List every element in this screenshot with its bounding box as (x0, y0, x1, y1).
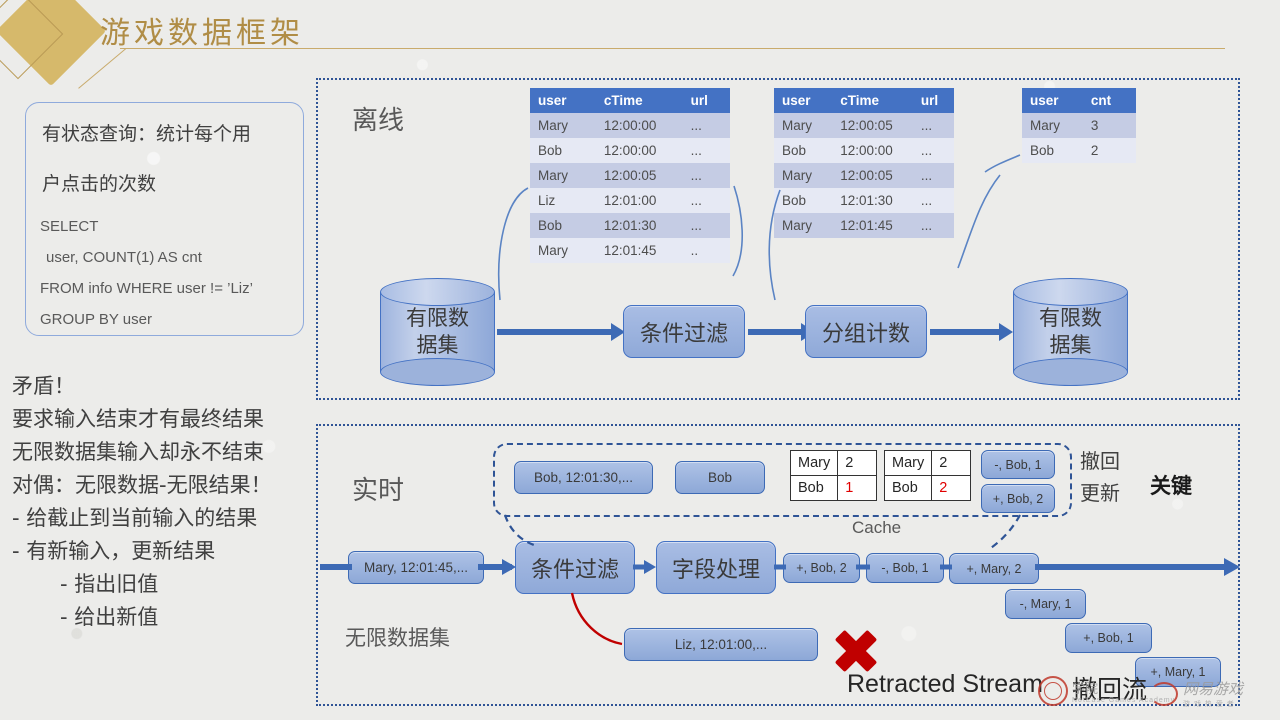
table-cell: Bob (774, 188, 832, 213)
header-rule-diagonal (78, 48, 126, 89)
sql-code-select: SELECT (40, 218, 98, 235)
table-cell: Liz (530, 188, 596, 213)
table-row: Mary12:00:05... (774, 113, 954, 138)
table-header-cell: cnt (1083, 88, 1136, 113)
table-cell: 12:00:00 (596, 138, 683, 163)
table-cell: ... (913, 138, 954, 163)
table-row: Bob12:01:30... (774, 188, 954, 213)
offline-sink-label: 有限数 据集 (1013, 278, 1128, 386)
table-header-cell: user (530, 88, 596, 113)
cache-output-append[interactable]: +, Bob, 2 (981, 484, 1055, 513)
realtime-field-step[interactable]: 字段处理 (656, 541, 776, 594)
realtime-section-label: 实时 (352, 470, 404, 507)
table-cell: Mary (530, 163, 596, 188)
table-row: Mary3 (1022, 113, 1136, 138)
offline-sink-cylinder: 有限数 据集 (1013, 278, 1128, 386)
offline-arrow-2 (748, 329, 802, 335)
retract-update-note: 撤回 更新 (1080, 445, 1120, 509)
header-rule (120, 48, 1225, 49)
infinite-dataset-label: 无限数据集 (345, 622, 450, 652)
table-cell: ... (683, 163, 730, 188)
cache-row: Bob1 (791, 476, 877, 501)
table-cell: ... (683, 138, 730, 163)
table-cell: Mary (1022, 113, 1083, 138)
offline-sink-label-line2: 据集 (1050, 332, 1092, 359)
netease-mark-icon (1150, 682, 1178, 706)
table-cell: Bob (774, 138, 832, 163)
table-cell: Mary (530, 113, 596, 138)
table-row: Liz12:01:00... (530, 188, 730, 213)
retract-note-line2: 更新 (1080, 477, 1120, 509)
note-item: 无限数据集输入却永不结束 (12, 436, 312, 469)
table-cell: 2 (1083, 138, 1136, 163)
cache-row: Bob2 (885, 476, 971, 501)
offline-result-table: usercnt Mary3Bob2 (1022, 88, 1136, 163)
offline-source-table: usercTimeurl Mary12:00:00...Bob12:00:00.… (530, 88, 730, 263)
offline-source-cylinder: 有限数 据集 (380, 278, 495, 386)
table-header-cell: url (913, 88, 954, 113)
out-event-1[interactable]: -, Bob, 1 (866, 553, 944, 583)
table-cell: ... (683, 213, 730, 238)
table-cell: ... (913, 113, 954, 138)
table-cell: Bob (530, 138, 596, 163)
notes-list: 矛盾！ 要求输入结束才有最终结果 无限数据集输入却永不结束 对偶：无限数据-无限… (12, 370, 312, 634)
netease-games-logo: 网易游戏 游 戏 热 爱 者 (1150, 678, 1243, 709)
page-title: 游戏数据框架 (100, 8, 304, 52)
stream-input-event[interactable]: Mary, 12:01:45,... (348, 551, 484, 584)
cache-key-cell: Bob (885, 476, 932, 501)
cache-key-pill[interactable]: Bob (675, 461, 765, 494)
table-cell: ... (913, 213, 954, 238)
table-cell: 12:00:05 (596, 163, 683, 188)
retract-note-line1: 撤回 (1080, 445, 1120, 477)
table-cell: 12:00:00 (596, 113, 683, 138)
table-cell: 12:00:05 (832, 163, 913, 188)
cache-value-cell: 2 (932, 476, 971, 501)
table-row: Mary12:00:05... (774, 163, 954, 188)
table-header-cell: url (683, 88, 730, 113)
table-cell: 12:01:30 (832, 188, 913, 213)
cache-state-after: Mary2Bob2 (884, 450, 971, 501)
table-cell: Mary (774, 163, 832, 188)
offline-filter-step[interactable]: 条件过滤 (623, 305, 745, 358)
cache-row: Mary2 (885, 451, 971, 476)
cache-state-before: Mary2Bob1 (790, 450, 877, 501)
note-item: - 有新输入，更新结果 (12, 535, 312, 568)
cache-value-cell: 2 (932, 451, 971, 476)
table-cell: Mary (774, 213, 832, 238)
sql-desc-line2: 户点击的次数 (42, 169, 156, 196)
cache-input-event[interactable]: Bob, 12:01:30,... (514, 461, 653, 494)
note-item: 矛盾！ (12, 370, 312, 403)
sql-code-groupby: GROUP BY user (40, 311, 152, 328)
cache-value-cell: 2 (838, 451, 877, 476)
table-header-cell: cTime (832, 88, 913, 113)
cache-value-cell: 1 (838, 476, 877, 501)
table-cell: 12:01:45 (832, 213, 913, 238)
table-cell: ... (683, 113, 730, 138)
table-row: Mary12:01:45.. (530, 238, 730, 263)
sql-desc-line1: 有状态查询：统计每个用 (42, 119, 251, 146)
table-row: Bob2 (1022, 138, 1136, 163)
table-cell: 3 (1083, 113, 1136, 138)
seal-icon (1038, 676, 1068, 706)
table-row: Bob12:01:30... (530, 213, 730, 238)
cache-row: Mary2 (791, 451, 877, 476)
offline-section-label: 离线 (352, 100, 404, 137)
note-item: 对偶：无限数据-无限结果！ (12, 469, 312, 502)
table-cell: 12:01:30 (596, 213, 683, 238)
note-item: - 指出旧值 (12, 568, 312, 601)
sql-code-from: FROM info WHERE user != ’Liz’ (40, 280, 253, 297)
out-event-4[interactable]: +, Bob, 1 (1065, 623, 1152, 653)
out-event-0[interactable]: +, Bob, 2 (783, 553, 860, 583)
table-row: Bob12:00:00... (774, 138, 954, 163)
discard-x-icon (833, 628, 879, 674)
sql-code-columns: user, COUNT(1) AS cnt (46, 249, 202, 266)
cache-key-cell: Mary (885, 451, 932, 476)
table-cell: 12:00:00 (832, 138, 913, 163)
cache-key-cell: Mary (791, 451, 838, 476)
offline-arrow-1 (497, 329, 612, 335)
note-item: 要求输入结束才有最终结果 (12, 403, 312, 436)
table-cell: Mary (530, 238, 596, 263)
table-cell: 12:00:05 (832, 113, 913, 138)
sql-panel: 有状态查询：统计每个用 户点击的次数 SELECT user, COUNT(1)… (25, 102, 304, 336)
offline-source-label-line1: 有限数 (406, 305, 469, 332)
offline-sink-label-line1: 有限数 (1039, 305, 1102, 332)
retracted-stream-en: Retracted Stream (847, 670, 1043, 699)
offline-groupcount-step[interactable]: 分组计数 (805, 305, 927, 358)
table-cell: Mary (774, 113, 832, 138)
out-event-2[interactable]: +, Mary, 2 (949, 553, 1039, 584)
key-note: 关键 (1150, 470, 1192, 500)
note-item: - 给截止到当前输入的结果 (12, 502, 312, 535)
table-header-cell: cTime (596, 88, 683, 113)
table-cell: .. (683, 238, 730, 263)
table-cell: ... (913, 163, 954, 188)
table-row: Mary12:00:00... (530, 113, 730, 138)
filtered-out-event[interactable]: Liz, 12:01:00,... (624, 628, 818, 661)
slide-root: 游戏数据框架 有状态查询：统计每个用 户点击的次数 SELECT user, C… (0, 0, 1280, 720)
table-cell: Bob (530, 213, 596, 238)
netease-logo-text: 网易游戏 (1183, 678, 1243, 699)
cache-label: Cache (852, 518, 901, 538)
realtime-filter-step[interactable]: 条件过滤 (515, 541, 635, 594)
note-item: - 给出新值 (12, 601, 312, 634)
netease-logo-subtext: 游 戏 热 爱 者 (1183, 699, 1243, 709)
cache-output-retract[interactable]: -, Bob, 1 (981, 450, 1055, 479)
table-row: Mary12:00:05... (530, 163, 730, 188)
table-header-cell: user (774, 88, 832, 113)
offline-source-label-line2: 据集 (417, 332, 459, 359)
table-header-cell: user (1022, 88, 1083, 113)
table-cell: ... (913, 188, 954, 213)
offline-filtered-table: usercTimeurl Mary12:00:05...Bob12:00:00.… (774, 88, 954, 238)
table-row: Mary12:01:45... (774, 213, 954, 238)
table-row: Bob12:00:00... (530, 138, 730, 163)
table-cell: Bob (1022, 138, 1083, 163)
offline-source-label: 有限数 据集 (380, 278, 495, 386)
table-cell: 12:01:45 (596, 238, 683, 263)
table-cell: ... (683, 188, 730, 213)
table-cell: 12:01:00 (596, 188, 683, 213)
offline-arrow-3 (930, 329, 1000, 335)
out-event-3[interactable]: -, Mary, 1 (1005, 589, 1086, 619)
cache-key-cell: Bob (791, 476, 838, 501)
